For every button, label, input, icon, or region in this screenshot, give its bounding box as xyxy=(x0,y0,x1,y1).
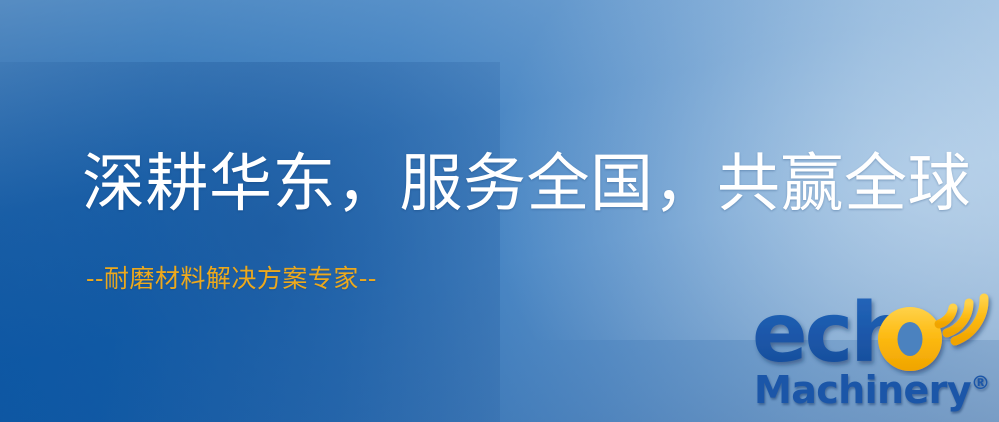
logo-letter-o-accent xyxy=(878,307,942,371)
logo-signal-arcs xyxy=(939,298,984,341)
logo-tagline-text: Machinery xyxy=(754,368,971,412)
registered-trademark-icon: ® xyxy=(971,372,990,394)
banner-subtitle: --耐磨材料解决方案专家-- xyxy=(86,265,377,293)
promo-banner: 深耕华东，服务全国，共赢全球 --耐磨材料解决方案专家-- xyxy=(0,0,999,422)
background-shade-bottom-left xyxy=(0,62,500,422)
company-logo[interactable]: ech Machinery® xyxy=(748,292,999,422)
banner-headline: 深耕华东，服务全国，共赢全球 xyxy=(82,151,971,218)
logo-wordmark-echo: ech xyxy=(748,292,999,376)
logo-tagline: Machinery® xyxy=(754,368,990,412)
